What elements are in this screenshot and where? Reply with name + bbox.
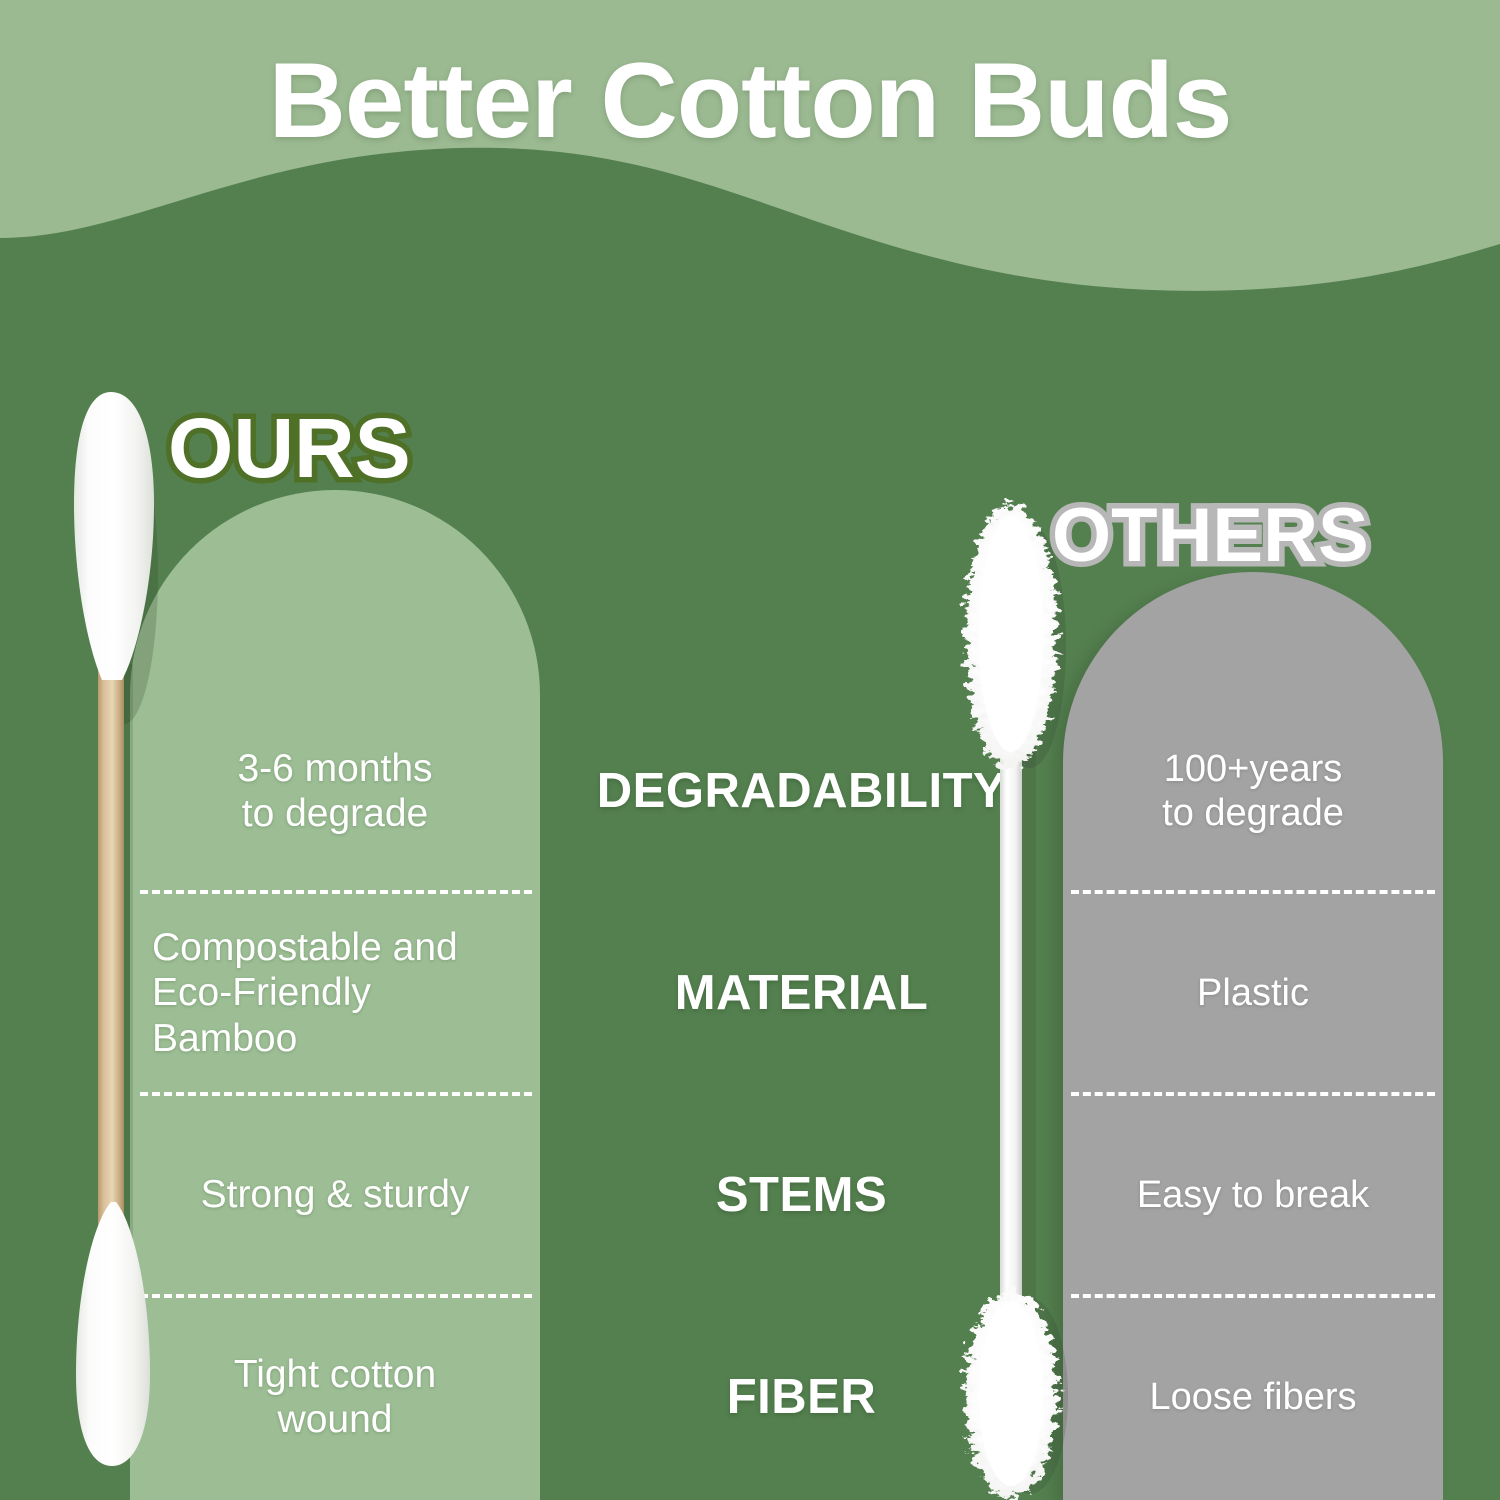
table-row: Strong & sturdy STEMS Easy to break: [0, 1094, 1500, 1296]
infographic-canvas: Better Cotton Buds OURS OTHERS: [0, 0, 1500, 1500]
page-title: Better Cotton Buds: [0, 42, 1500, 160]
divider-ours-2: [140, 1092, 532, 1096]
plastic-cotton-bud-icon: [948, 496, 1076, 1500]
divider-others-1: [1071, 890, 1435, 894]
cell-ours-stems: Strong & sturdy: [130, 1094, 540, 1296]
divider-others-2: [1071, 1092, 1435, 1096]
table-row: Tight cottonwound FIBER Loose fibers: [0, 1296, 1500, 1498]
divider-others-3: [1071, 1294, 1435, 1298]
cell-others-degradability: 100+yearsto degrade: [1063, 690, 1443, 892]
divider-ours-1: [140, 890, 532, 894]
cell-others-material: Plastic: [1063, 892, 1443, 1094]
heading-others: OTHERS: [1052, 498, 1369, 574]
cell-others-stems: Easy to break: [1063, 1094, 1443, 1296]
divider-ours-3: [140, 1294, 532, 1298]
cell-ours-fiber: Tight cottonwound: [130, 1296, 540, 1498]
cell-ours-degradability: 3-6 monthsto degrade: [130, 690, 540, 892]
cell-ours-material: Compostable andEco-FriendlyBamboo: [130, 892, 540, 1094]
bamboo-cotton-bud-icon: [62, 384, 164, 1474]
heading-ours: OURS: [168, 406, 411, 490]
table-row: Compostable andEco-FriendlyBamboo MATERI…: [0, 892, 1500, 1094]
cell-others-fiber: Loose fibers: [1063, 1296, 1443, 1498]
table-row: 3-6 monthsto degrade DEGRADABILITY 100+y…: [0, 690, 1500, 892]
